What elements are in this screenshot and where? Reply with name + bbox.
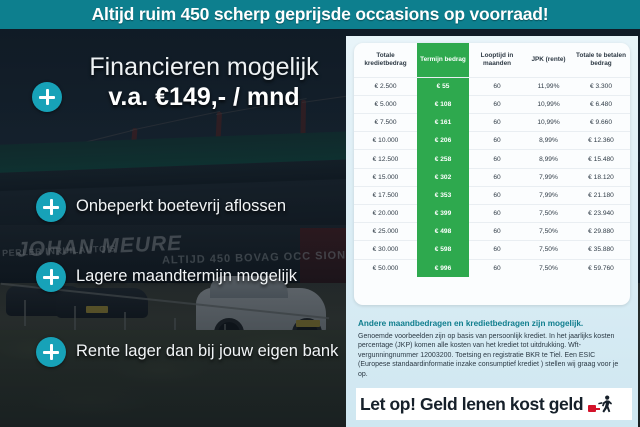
table-row: € 10.000€ 206608,99%€ 12.360 [354,132,630,150]
table-cell-r9-c1: € 598 [417,241,469,259]
table-row: € 12.500€ 258608,99%€ 15.480 [354,150,630,168]
table-cell-r2-c3: 10,99% [525,114,572,132]
table-cell-r3-c2: 60 [469,132,525,150]
plus-icon [36,262,66,292]
table-cell-r10-c0: € 50.000 [354,259,417,277]
table-row: € 15.000€ 302607,99%€ 18.120 [354,168,630,186]
table-cell-r1-c0: € 5.000 [354,95,417,113]
table-cell-r5-c4: € 18.120 [572,168,630,186]
table-cell-r5-c3: 7,99% [525,168,572,186]
table-cell-r6-c0: € 17.500 [354,186,417,204]
money-bag-runner-icon [588,394,612,414]
table-cell-r8-c0: € 25.000 [354,223,417,241]
table-cell-r8-c2: 60 [469,223,525,241]
table-cell-r0-c3: 11,99% [525,77,572,95]
table-cell-r7-c1: € 399 [417,205,469,223]
table-cell-r5-c1: € 302 [417,168,469,186]
table-body: € 2.500€ 556011,99%€ 3.300€ 5.000€ 10860… [354,77,630,277]
table-cell-r10-c2: 60 [469,259,525,277]
table-header-cell-1: Termijn bedrag [417,44,469,78]
table-cell-r4-c1: € 258 [417,150,469,168]
table-cell-r10-c3: 7,50% [525,259,572,277]
table-cell-r6-c4: € 21.180 [572,186,630,204]
plus-icon [32,82,62,112]
table-cell-r10-c1: € 996 [417,259,469,277]
finance-table: Totale kredietbedragTermijn bedragLoopti… [354,43,630,277]
table-cell-r3-c3: 8,99% [525,132,572,150]
top-banner-text: Altijd ruim 450 scherp geprijsde occasio… [92,4,549,25]
table-cell-r8-c1: € 498 [417,223,469,241]
headline-line-1: Financieren mogelijk [64,52,344,82]
table-row: € 2.500€ 556011,99%€ 3.300 [354,77,630,95]
table-row: € 30.000€ 598607,50%€ 35.880 [354,241,630,259]
table-cell-r2-c2: 60 [469,114,525,132]
top-banner: Altijd ruim 450 scherp geprijsde occasio… [0,0,640,29]
table-cell-r1-c1: € 108 [417,95,469,113]
table-cell-r0-c0: € 2.500 [354,77,417,95]
table-cell-r4-c0: € 12.500 [354,150,417,168]
table-cell-r6-c3: 7,99% [525,186,572,204]
table-cell-r6-c2: 60 [469,186,525,204]
table-cell-r3-c4: € 12.360 [572,132,630,150]
table-cell-r8-c3: 7,50% [525,223,572,241]
table-cell-r7-c4: € 23.940 [572,205,630,223]
table-header-cell-2: Looptijd in maanden [469,44,525,78]
table-cell-r7-c3: 7,50% [525,205,572,223]
note-body: Genoemde voorbeelden zijn op basis van p… [358,332,620,379]
table-cell-r5-c0: € 15.000 [354,168,417,186]
running-man-icon [597,395,612,414]
table-cell-r9-c4: € 35.880 [572,241,630,259]
table-cell-r4-c4: € 15.480 [572,150,630,168]
table-header-row: Totale kredietbedragTermijn bedragLoopti… [354,44,630,78]
finance-card: Totale kredietbedragTermijn bedragLoopti… [346,36,638,427]
bullet-item-1: Onbeperkt boetevrij aflossen [76,197,376,216]
table-cell-r7-c0: € 20.000 [354,205,417,223]
headline-line-2: v.a. €149,- / mnd [64,82,344,113]
table-row: € 17.500€ 353607,99%€ 21.180 [354,186,630,204]
table-cell-r3-c0: € 10.000 [354,132,417,150]
table-header-cell-4: Totale te betalen bedrag [572,44,630,78]
advertisement-banner: PERLER INRUILAUTO'S JOHAN MEURE ALTIJD 4… [0,0,640,427]
table-cell-r3-c1: € 206 [417,132,469,150]
table-cell-r1-c3: 10,99% [525,95,572,113]
table-cell-r4-c2: 60 [469,150,525,168]
table-row: € 25.000€ 498607,50%€ 29.880 [354,223,630,241]
table-cell-r1-c4: € 6.480 [572,95,630,113]
table-cell-r0-c4: € 3.300 [572,77,630,95]
table-row: € 50.000€ 996607,50%€ 59.760 [354,259,630,277]
left-content: Financieren mogelijk v.a. €149,- / mnd O… [0,29,346,427]
table-cell-r9-c3: 7,50% [525,241,572,259]
money-bag-icon [588,405,596,412]
finance-table-container: Totale kredietbedragTermijn bedragLoopti… [354,43,630,305]
table-row: € 20.000€ 399607,50%€ 23.940 [354,205,630,223]
table-cell-r9-c0: € 30.000 [354,241,417,259]
table-cell-r2-c4: € 9.660 [572,114,630,132]
bullet-item-2: Lagere maandtermijn mogelijk [76,267,376,286]
table-header-cell-0: Totale kredietbedrag [354,44,417,78]
table-header-cell-3: JPK (rente) [525,44,572,78]
table-cell-r6-c1: € 353 [417,186,469,204]
table-cell-r0-c1: € 55 [417,77,469,95]
plus-icon [36,337,66,367]
bullet-item-3: Rente lager dan bij jouw eigen bank [76,342,376,361]
table-cell-r7-c2: 60 [469,205,525,223]
table-cell-r10-c4: € 59.760 [572,259,630,277]
table-cell-r9-c2: 60 [469,241,525,259]
headline: Financieren mogelijk v.a. €149,- / mnd [64,52,344,113]
afm-warning-text: Let op! Geld lenen kost geld [360,394,583,415]
table-cell-r5-c2: 60 [469,168,525,186]
plus-icon [36,192,66,222]
note-title: Andere maandbedragen en kredietbedragen … [358,318,626,329]
table-cell-r8-c4: € 29.880 [572,223,630,241]
table-cell-r4-c3: 8,99% [525,150,572,168]
table-row: € 7.500€ 1616010,99%€ 9.660 [354,114,630,132]
table-cell-r0-c2: 60 [469,77,525,95]
afm-warning-block: Let op! Geld lenen kost geld [356,388,632,420]
table-cell-r2-c1: € 161 [417,114,469,132]
table-cell-r2-c0: € 7.500 [354,114,417,132]
table-row: € 5.000€ 1086010,99%€ 6.480 [354,95,630,113]
table-cell-r1-c2: 60 [469,95,525,113]
